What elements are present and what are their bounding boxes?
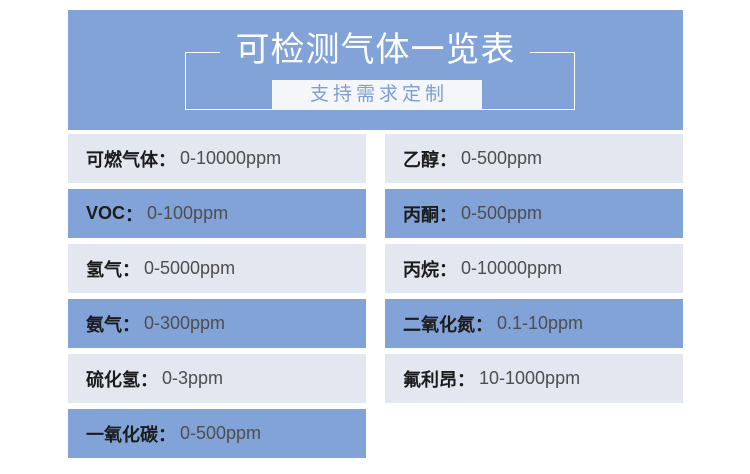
gas-name: 可燃气体 xyxy=(86,146,158,172)
gas-range: 0-500ppm xyxy=(461,203,542,224)
gas-separator: ： xyxy=(439,146,457,172)
table-row: 丙烷：0-10000ppm xyxy=(385,244,683,293)
table-row: 氢气：0-5000ppm xyxy=(68,244,366,293)
gas-range: 10-1000ppm xyxy=(479,368,580,389)
gas-name: VOC xyxy=(86,203,125,224)
gas-detection-table-page: 可检测气体一览表 支持需求定制 可燃气体：0-10000ppmVOC：0-100… xyxy=(0,0,750,474)
header-banner: 可检测气体一览表 支持需求定制 xyxy=(68,10,683,130)
table-row: 可燃气体：0-10000ppm xyxy=(68,134,366,183)
gas-name: 氨气 xyxy=(86,311,122,337)
gas-name: 乙醇 xyxy=(403,146,439,172)
gas-name: 氢气 xyxy=(86,256,122,282)
table-row-empty xyxy=(385,409,683,458)
gas-separator: ： xyxy=(140,366,158,392)
gas-range: 0-500ppm xyxy=(180,423,261,444)
gas-range: 0-300ppm xyxy=(144,313,225,334)
gas-name: 一氧化碳 xyxy=(86,421,158,447)
gas-name: 硫化氢 xyxy=(86,366,140,392)
gas-name: 二氧化氮 xyxy=(403,311,475,337)
table-row: 氟利昂：10-1000ppm xyxy=(385,354,683,403)
gas-separator: ： xyxy=(125,201,143,227)
gas-separator: ： xyxy=(457,366,475,392)
table-row: 一氧化碳：0-500ppm xyxy=(68,409,366,458)
gas-separator: ： xyxy=(122,311,140,337)
gas-separator: ： xyxy=(158,421,176,447)
table-row: 氨气：0-300ppm xyxy=(68,299,366,348)
gas-separator: ： xyxy=(475,311,493,337)
table-row: 硫化氢：0-3ppm xyxy=(68,354,366,403)
page-title: 可检测气体一览表 xyxy=(68,28,683,72)
gas-separator: ： xyxy=(122,256,140,282)
gas-range: 0.1-10ppm xyxy=(497,313,583,334)
gas-range: 0-10000ppm xyxy=(461,258,562,279)
table-row: VOC：0-100ppm xyxy=(68,189,366,238)
gas-name: 丙酮 xyxy=(403,201,439,227)
gas-separator: ： xyxy=(439,201,457,227)
gas-range: 0-10000ppm xyxy=(180,148,281,169)
table-row: 二氧化氮：0.1-10ppm xyxy=(385,299,683,348)
gas-range: 0-3ppm xyxy=(162,368,223,389)
gas-range: 0-100ppm xyxy=(147,203,228,224)
table-row: 丙酮：0-500ppm xyxy=(385,189,683,238)
subtitle-badge: 支持需求定制 xyxy=(272,80,482,110)
gas-name: 氟利昂 xyxy=(403,366,457,392)
gas-range: 0-500ppm xyxy=(461,148,542,169)
gas-table: 可燃气体：0-10000ppmVOC：0-100ppm氢气：0-5000ppm氨… xyxy=(68,134,683,464)
gas-name: 丙烷 xyxy=(403,256,439,282)
gas-table-right-column: 乙醇：0-500ppm丙酮：0-500ppm丙烷：0-10000ppm二氧化氮：… xyxy=(385,134,683,464)
gas-separator: ： xyxy=(158,146,176,172)
gas-table-left-column: 可燃气体：0-10000ppmVOC：0-100ppm氢气：0-5000ppm氨… xyxy=(68,134,366,464)
gas-range: 0-5000ppm xyxy=(144,258,235,279)
table-row: 乙醇：0-500ppm xyxy=(385,134,683,183)
gas-separator: ： xyxy=(439,256,457,282)
